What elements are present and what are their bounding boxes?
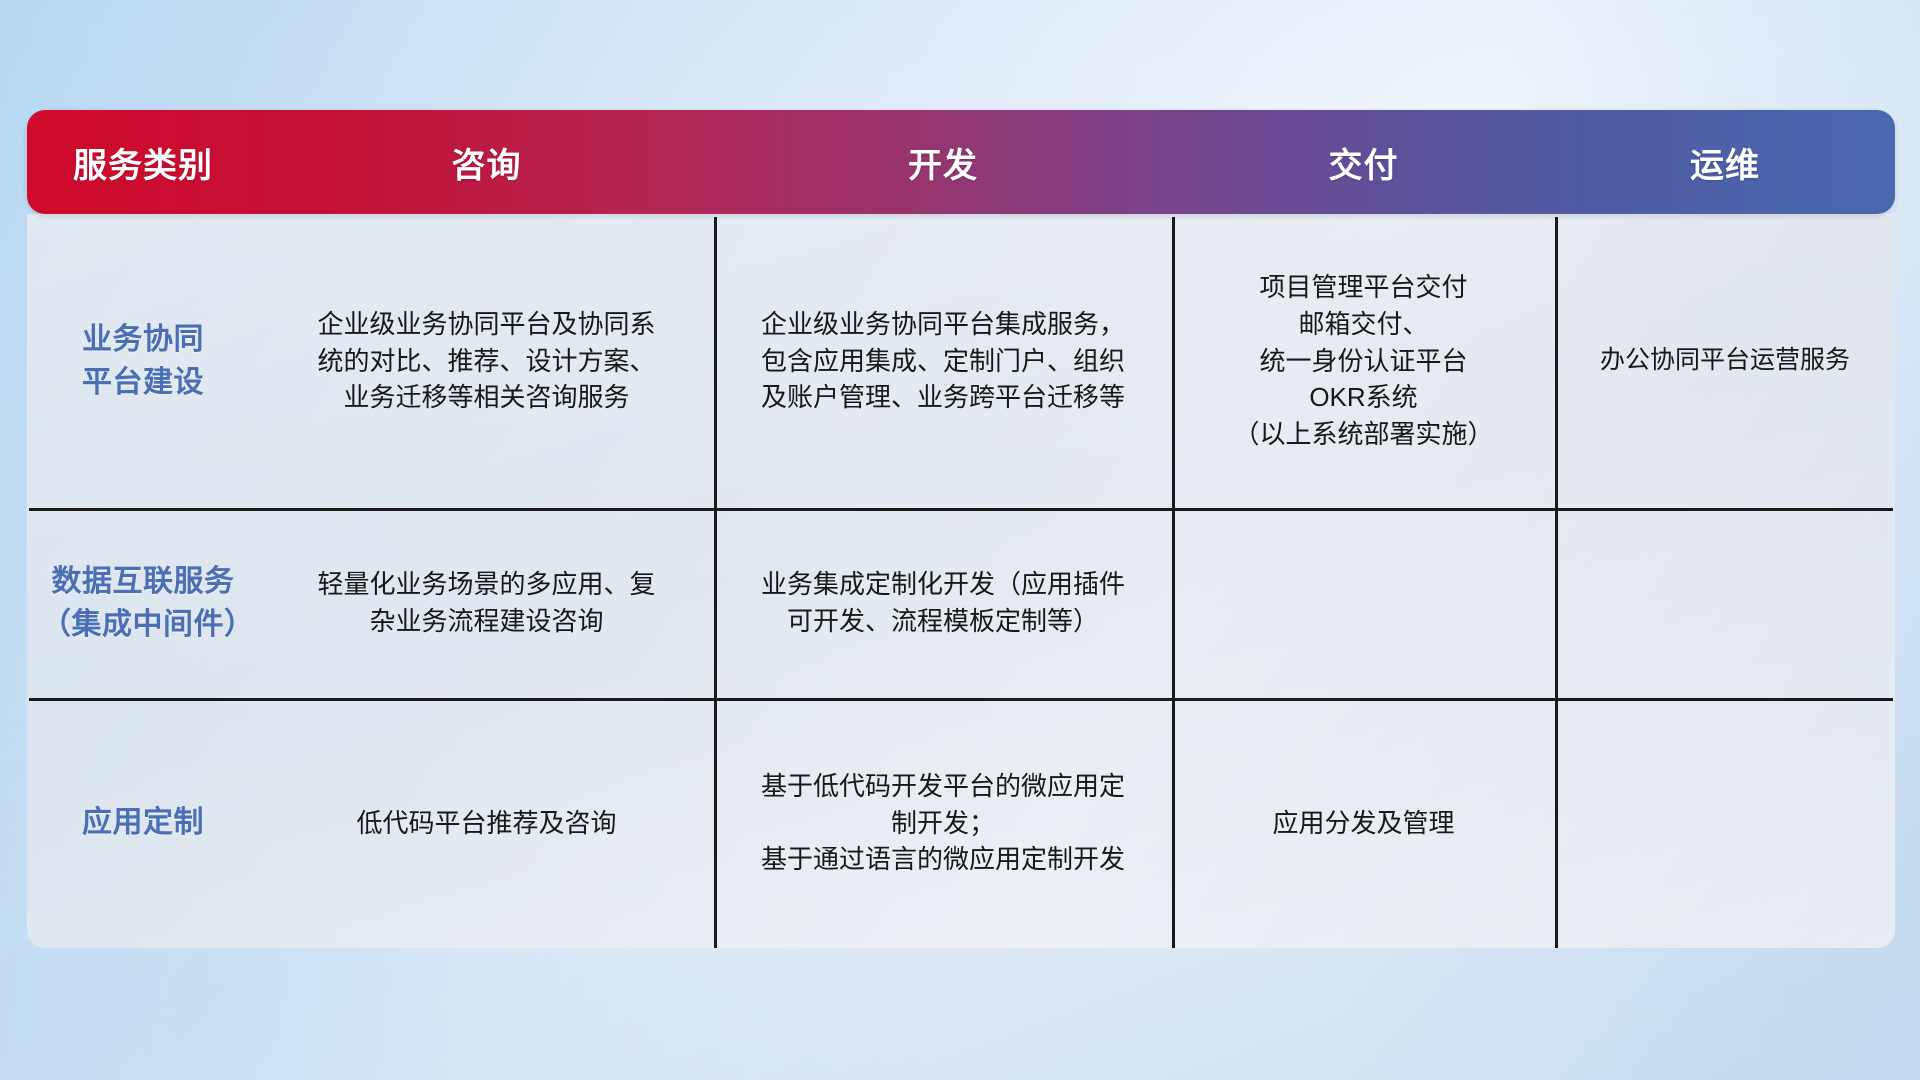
cell-development: 基于低代码开发平台的微应用定制开发；基于通过语言的微应用定制开发 (714, 698, 1172, 948)
service-matrix-table: 服务类别 咨询 开发 交付 运维 业务协同平台建设 企业级业务协同平台及协同系统… (27, 110, 1895, 948)
cell-operations (1555, 698, 1895, 948)
cell-category: 数据互联服务（集成中间件） (27, 508, 259, 698)
column-header-development: 开发 (714, 138, 1172, 187)
cell-development: 业务集成定制化开发（应用插件可开发、流程模板定制等） (714, 508, 1172, 698)
cell-delivery: 项目管理平台交付邮箱交付、统一身份认证平台OKR系统（以上系统部署实施） (1172, 214, 1555, 508)
row-divider (29, 508, 1893, 511)
cell-category: 应用定制 (27, 698, 259, 948)
column-header-delivery: 交付 (1172, 138, 1555, 187)
table-rows: 业务协同平台建设 企业级业务协同平台及协同系统的对比、推荐、设计方案、业务迁移等… (27, 214, 1895, 948)
column-divider (1555, 217, 1558, 948)
column-divider (714, 217, 717, 948)
column-header-category: 服务类别 (27, 138, 259, 187)
cell-category: 业务协同平台建设 (27, 214, 259, 508)
cell-delivery (1172, 508, 1555, 698)
table-row: 业务协同平台建设 企业级业务协同平台及协同系统的对比、推荐、设计方案、业务迁移等… (27, 214, 1895, 508)
column-header-consulting: 咨询 (259, 138, 714, 187)
row-divider (29, 698, 1893, 701)
cell-operations (1555, 508, 1895, 698)
cell-development: 企业级业务协同平台集成服务，包含应用集成、定制门户、组织及账户管理、业务跨平台迁… (714, 214, 1172, 508)
cell-consulting: 低代码平台推荐及咨询 (259, 698, 714, 948)
table-row: 应用定制 低代码平台推荐及咨询 基于低代码开发平台的微应用定制开发；基于通过语言… (27, 698, 1895, 948)
cell-operations: 办公协同平台运营服务 (1555, 214, 1895, 508)
column-divider (1172, 217, 1175, 948)
cell-consulting: 轻量化业务场景的多应用、复杂业务流程建设咨询 (259, 508, 714, 698)
cell-consulting: 企业级业务协同平台及协同系统的对比、推荐、设计方案、业务迁移等相关咨询服务 (259, 214, 714, 508)
column-header-operations: 运维 (1555, 138, 1895, 187)
cell-delivery: 应用分发及管理 (1172, 698, 1555, 948)
table-header-row: 服务类别 咨询 开发 交付 运维 (27, 110, 1895, 214)
table-row: 数据互联服务（集成中间件） 轻量化业务场景的多应用、复杂业务流程建设咨询 业务集… (27, 508, 1895, 698)
